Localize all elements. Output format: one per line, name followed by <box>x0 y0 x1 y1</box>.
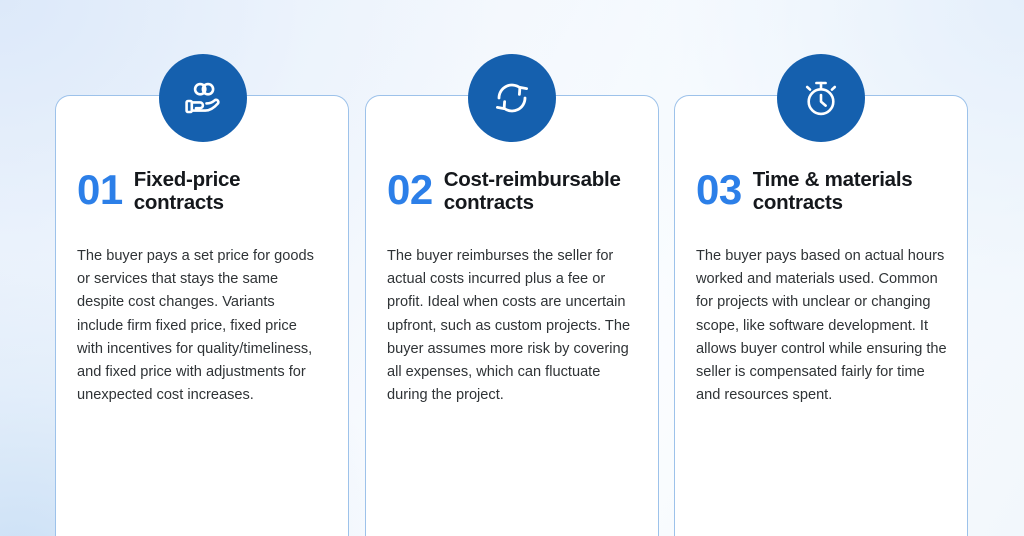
icon-badge-time-and-materials <box>777 54 865 142</box>
card-title: Fixed-price contracts <box>134 166 318 214</box>
card-content: 02 Cost-reimbursable contracts The buyer… <box>366 96 658 536</box>
card-number: 01 <box>77 167 123 213</box>
icon-badge-fixed-price <box>159 54 247 142</box>
icon-badge-cost-reimbursable <box>468 54 556 142</box>
infographic-canvas: 01 Fixed-price contracts The buyer pays … <box>0 0 1024 536</box>
card-number: 03 <box>696 167 742 213</box>
card-heading: 03 Time & materials contracts <box>696 166 949 214</box>
card-title: Time & materials contracts <box>753 166 949 214</box>
card-content: 03 Time & materials contracts The buyer … <box>675 96 967 536</box>
card-cost-reimbursable[interactable]: 02 Cost-reimbursable contracts The buyer… <box>365 95 659 536</box>
card-fixed-price[interactable]: 01 Fixed-price contracts The buyer pays … <box>55 95 349 536</box>
card-body: The buyer pays a set price for goods or … <box>77 245 318 407</box>
cards-container: 01 Fixed-price contracts The buyer pays … <box>0 0 1024 536</box>
hand-holding-coins-icon <box>181 76 225 120</box>
stopwatch-icon <box>799 76 843 120</box>
card-body: The buyer reimburses the seller for actu… <box>387 245 640 407</box>
card-heading: 01 Fixed-price contracts <box>77 166 318 214</box>
card-heading: 02 Cost-reimbursable contracts <box>387 166 640 214</box>
card-title: Cost-reimbursable contracts <box>444 166 640 214</box>
card-number: 02 <box>387 167 433 213</box>
refresh-cycle-icon <box>491 77 533 119</box>
card-time-and-materials[interactable]: 03 Time & materials contracts The buyer … <box>674 95 968 536</box>
card-body: The buyer pays based on actual hours wor… <box>696 245 949 407</box>
card-content: 01 Fixed-price contracts The buyer pays … <box>56 96 348 536</box>
